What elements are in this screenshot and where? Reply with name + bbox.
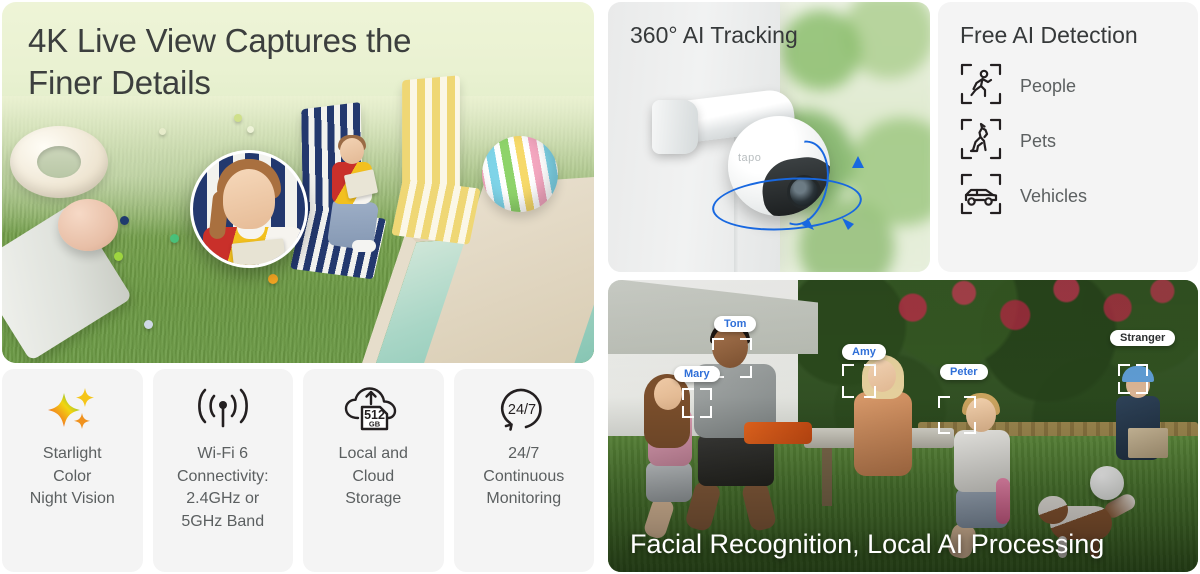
face-tag-mary[interactable]: Mary (674, 366, 720, 382)
hero-title: 4K Live View Captures the Finer Details (28, 20, 548, 104)
hero-4k-live-view-panel: 4K Live View Captures the Finer Details (2, 2, 594, 363)
detection-item-label: Pets (1020, 131, 1056, 152)
pool-float-ring (10, 126, 108, 198)
marketing-feature-board: 4K Live View Captures the Finer Details (0, 0, 1200, 574)
detection-item-label: Vehicles (1020, 186, 1087, 207)
wifi-signal-icon (192, 383, 254, 437)
tracking-panel-title: 360° AI Tracking (630, 22, 798, 49)
magnified-detail-circle (190, 150, 308, 268)
feature-card-label: Starlight Color Night Vision (30, 443, 115, 511)
detection-item-people[interactable]: People (960, 63, 1176, 110)
face-tag-amy[interactable]: Amy (842, 344, 886, 360)
facial-recognition-panel: Tom Mary Amy Peter Stranger Facial Recog… (608, 280, 1198, 572)
child-reading-figure (324, 138, 378, 254)
round-stool (58, 199, 118, 251)
feature-card-storage[interactable]: 512 GB Local and Cloud Storage (303, 369, 444, 572)
detection-panel-title: Free AI Detection (960, 22, 1176, 49)
face-box-mary (682, 388, 712, 418)
sd-card-unit: GB (369, 420, 381, 429)
face-panel-caption: Facial Recognition, Local AI Processing (630, 529, 1104, 560)
face-tag-peter[interactable]: Peter (940, 364, 988, 380)
feature-card-wifi6[interactable]: Wi-Fi 6 Connectivity: 2.4GHz or 5GHz Ban… (153, 369, 294, 572)
face-box-amy (842, 364, 876, 398)
tapo-camera-illustration: tapo (656, 90, 866, 240)
24-7-clock-icon: 24/7 (497, 383, 551, 437)
pink-blossoms (868, 280, 1188, 372)
rotation-arrows (696, 134, 876, 234)
clock-label: 24/7 (508, 402, 536, 418)
detection-item-label: People (1020, 76, 1076, 97)
face-tag-tom[interactable]: Tom (714, 316, 756, 332)
feature-card-row: Starlight Color Night Vision Wi-Fi 6 Con… (2, 369, 594, 572)
starlight-sparkle-icon (47, 383, 97, 437)
feature-card-247[interactable]: 24/7 24/7 Continuous Monitoring (454, 369, 595, 572)
feature-card-label: Local and Cloud Storage (339, 443, 408, 511)
360-ai-tracking-panel: tapo 360° AI Tracking (608, 2, 930, 272)
face-box-stranger (1118, 364, 1148, 394)
face-tag-stranger[interactable]: Stranger (1110, 330, 1175, 346)
detection-item-vehicles[interactable]: Vehicles (960, 173, 1176, 220)
beach-ball (482, 136, 558, 212)
person-detection-icon (960, 63, 1002, 110)
detection-item-pets[interactable]: Pets (960, 118, 1176, 165)
white-ball (1090, 466, 1124, 500)
pet-detection-icon (960, 118, 1002, 165)
feature-card-label: Wi-Fi 6 Connectivity: 2.4GHz or 5GHz Ban… (177, 443, 269, 534)
vehicle-detection-icon (960, 173, 1002, 220)
free-ai-detection-panel: Free AI Detection People Pets (938, 2, 1198, 272)
cloud-sd-card-icon: 512 GB (342, 383, 404, 437)
feature-card-label: 24/7 Continuous Monitoring (483, 443, 564, 511)
face-box-peter (938, 396, 976, 434)
feature-card-starlight[interactable]: Starlight Color Night Vision (2, 369, 143, 572)
